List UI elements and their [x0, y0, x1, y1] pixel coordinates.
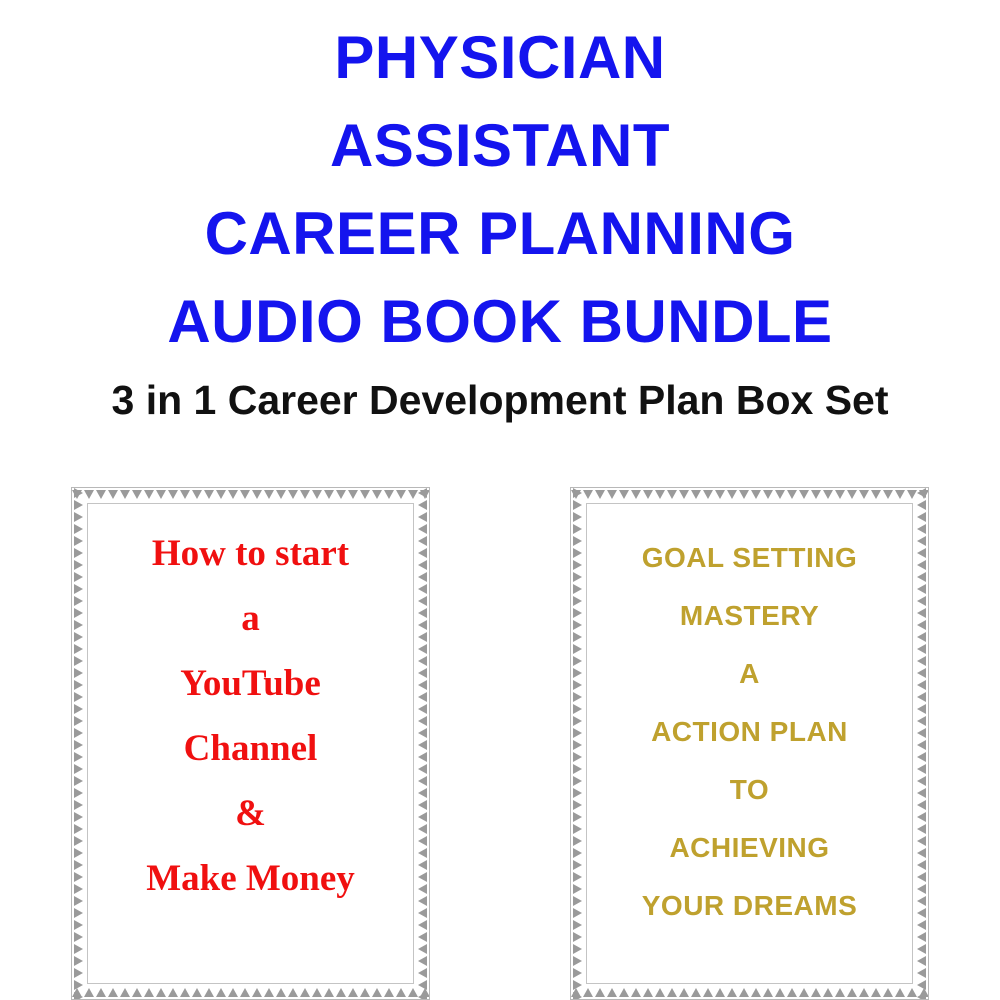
frame-triangle — [799, 988, 809, 997]
frame-triangle — [156, 988, 166, 997]
frame-triangle — [192, 988, 202, 997]
frame-triangle — [631, 988, 641, 997]
frame-triangle — [108, 988, 118, 997]
frame-triangle — [847, 988, 857, 997]
frame-triangle — [74, 980, 83, 990]
frame-triangle — [573, 980, 582, 990]
frame-triangle — [204, 988, 214, 997]
frame-triangle — [691, 988, 701, 997]
frame-triangle — [418, 980, 427, 990]
frame-triangle — [360, 988, 370, 997]
title-line-3: CAREER PLANNING — [0, 190, 1000, 278]
frame-triangle — [168, 490, 178, 499]
frame-triangle — [372, 490, 382, 499]
frame-triangle — [917, 992, 926, 999]
book-bundle-cover-page: PHYSICIAN ASSISTANT CAREER PLANNING AUDI… — [0, 0, 1000, 1000]
frame-triangle — [228, 490, 238, 499]
frame-triangle — [835, 988, 845, 997]
frame-triangle — [216, 988, 226, 997]
frame-triangle — [384, 490, 394, 499]
frame-triangle — [847, 490, 857, 499]
frame-triangle — [917, 488, 926, 498]
frame-triangle — [787, 490, 797, 499]
frame-triangle — [312, 490, 322, 499]
frame-triangle — [775, 490, 785, 499]
frame-triangle — [917, 500, 926, 510]
frame-triangle — [715, 490, 725, 499]
frame-triangle — [418, 920, 427, 930]
frame-triangles-top — [571, 490, 928, 502]
frame-triangle — [715, 988, 725, 997]
frame-triangle — [917, 956, 926, 966]
frame-triangle — [883, 490, 893, 499]
frame-triangle — [168, 988, 178, 997]
frame-triangle — [74, 968, 83, 978]
frame-triangle — [655, 988, 665, 997]
frame-triangle — [775, 988, 785, 997]
frame-triangle — [418, 992, 427, 999]
frame-triangle — [573, 968, 582, 978]
frame-triangle — [144, 988, 154, 997]
frame-triangle — [348, 988, 358, 997]
frame-triangle — [607, 988, 617, 997]
frame-triangle — [595, 490, 605, 499]
cover-line: ACHIEVING — [570, 819, 929, 877]
frame-triangle — [300, 988, 310, 997]
frame-triangle — [418, 500, 427, 510]
cover-line: A — [570, 645, 929, 703]
cover-line: MASTERY — [570, 587, 929, 645]
frame-triangle — [180, 490, 190, 499]
frame-triangle — [360, 490, 370, 499]
frame-triangle — [144, 490, 154, 499]
frame-triangle — [917, 944, 926, 954]
book-cover-youtube: How to start a YouTube Channel & Make Mo… — [71, 487, 430, 1000]
frame-triangle — [312, 988, 322, 997]
frame-triangle — [74, 992, 83, 999]
cover-line: ACTION PLAN — [570, 703, 929, 761]
title-line-2: ASSISTANT — [0, 102, 1000, 190]
frame-triangle — [573, 944, 582, 954]
frame-triangle — [895, 988, 905, 997]
frame-triangle — [264, 490, 274, 499]
frame-triangle — [679, 988, 689, 997]
frame-triangle — [859, 490, 869, 499]
frame-triangle — [573, 992, 582, 999]
title-line-4: AUDIO BOOK BUNDLE — [0, 278, 1000, 366]
frame-triangle — [727, 988, 737, 997]
frame-triangle — [751, 490, 761, 499]
frame-triangle — [418, 944, 427, 954]
frame-triangle — [418, 968, 427, 978]
frame-triangle — [108, 490, 118, 499]
covers-row: How to start a YouTube Channel & Make Mo… — [0, 487, 1000, 1000]
frame-triangle — [336, 988, 346, 997]
frame-triangle — [372, 988, 382, 997]
frame-triangle — [276, 988, 286, 997]
frame-triangle — [883, 988, 893, 997]
frame-triangle — [324, 988, 334, 997]
frame-triangle — [74, 944, 83, 954]
frame-triangle — [643, 490, 653, 499]
cover-text-youtube: How to start a YouTube Channel & Make Mo… — [71, 521, 430, 911]
frame-triangle — [276, 490, 286, 499]
frame-triangle — [252, 490, 262, 499]
frame-triangle — [667, 490, 677, 499]
cover-line: YOUR DREAMS — [570, 877, 929, 935]
frame-triangle — [264, 988, 274, 997]
frame-triangle — [595, 988, 605, 997]
frame-triangle — [895, 490, 905, 499]
frame-triangle — [384, 988, 394, 997]
frame-triangle — [811, 490, 821, 499]
frame-triangles-top — [72, 490, 429, 502]
frame-triangle — [667, 988, 677, 997]
title-block: PHYSICIAN ASSISTANT CAREER PLANNING AUDI… — [0, 0, 1000, 428]
frame-triangle — [216, 490, 226, 499]
frame-triangle — [751, 988, 761, 997]
frame-triangles-bottom — [571, 985, 928, 997]
frame-triangle — [74, 500, 83, 510]
page-subtitle: 3 in 1 Career Development Plan Box Set — [0, 372, 1000, 428]
frame-triangle — [703, 988, 713, 997]
frame-triangle — [300, 490, 310, 499]
frame-triangle — [288, 490, 298, 499]
frame-triangles-bottom — [72, 985, 429, 997]
frame-triangle — [655, 490, 665, 499]
frame-triangle — [573, 956, 582, 966]
frame-triangle — [727, 490, 737, 499]
frame-triangle — [917, 968, 926, 978]
frame-triangle — [180, 988, 190, 997]
frame-triangle — [763, 490, 773, 499]
frame-triangle — [228, 988, 238, 997]
frame-triangle — [96, 490, 106, 499]
frame-triangle — [240, 988, 250, 997]
frame-triangle — [871, 988, 881, 997]
frame-triangle — [823, 988, 833, 997]
cover-line: YouTube — [71, 651, 430, 716]
frame-triangle — [631, 490, 641, 499]
frame-triangle — [132, 988, 142, 997]
cover-text-goal-setting: GOAL SETTING MASTERY A ACTION PLAN TO AC… — [570, 529, 929, 935]
title-line-1: PHYSICIAN — [0, 14, 1000, 102]
frame-triangle — [418, 956, 427, 966]
frame-triangle — [96, 988, 106, 997]
frame-triangle — [74, 932, 83, 942]
frame-triangle — [763, 988, 773, 997]
frame-triangle — [74, 956, 83, 966]
frame-triangle — [607, 490, 617, 499]
frame-triangle — [240, 490, 250, 499]
frame-triangle — [835, 490, 845, 499]
frame-triangle — [74, 488, 83, 498]
cover-line: Make Money — [71, 846, 430, 911]
frame-triangle — [619, 988, 629, 997]
frame-triangle — [859, 988, 869, 997]
frame-triangle — [823, 490, 833, 499]
frame-triangle — [739, 490, 749, 499]
cover-line: TO — [570, 761, 929, 819]
frame-triangle — [573, 488, 582, 498]
cover-line: GOAL SETTING — [570, 529, 929, 587]
frame-triangle — [679, 490, 689, 499]
frame-triangle — [643, 988, 653, 997]
frame-triangle — [120, 988, 130, 997]
frame-triangle — [288, 988, 298, 997]
frame-triangle — [396, 490, 406, 499]
frame-triangle — [192, 490, 202, 499]
frame-triangle — [691, 490, 701, 499]
frame-triangle — [418, 488, 427, 498]
frame-triangle — [396, 988, 406, 997]
frame-triangle — [811, 988, 821, 997]
book-cover-goal-setting: GOAL SETTING MASTERY A ACTION PLAN TO AC… — [570, 487, 929, 1000]
frame-triangle — [252, 988, 262, 997]
frame-triangle — [418, 932, 427, 942]
frame-triangle — [573, 500, 582, 510]
cover-line: Channel — [71, 716, 430, 781]
frame-triangle — [156, 490, 166, 499]
frame-triangle — [917, 512, 926, 522]
frame-triangle — [132, 490, 142, 499]
frame-triangle — [573, 512, 582, 522]
cover-line: & — [71, 781, 430, 846]
frame-triangle — [917, 980, 926, 990]
frame-triangle — [871, 490, 881, 499]
frame-triangle — [739, 988, 749, 997]
cover-line: How to start — [71, 521, 430, 586]
frame-triangle — [336, 490, 346, 499]
cover-line: a — [71, 586, 430, 651]
frame-triangle — [74, 920, 83, 930]
frame-triangle — [619, 490, 629, 499]
frame-triangle — [204, 490, 214, 499]
frame-triangle — [787, 988, 797, 997]
frame-triangle — [120, 490, 130, 499]
frame-triangle — [703, 490, 713, 499]
frame-triangle — [324, 490, 334, 499]
frame-triangle — [799, 490, 809, 499]
frame-triangle — [348, 490, 358, 499]
